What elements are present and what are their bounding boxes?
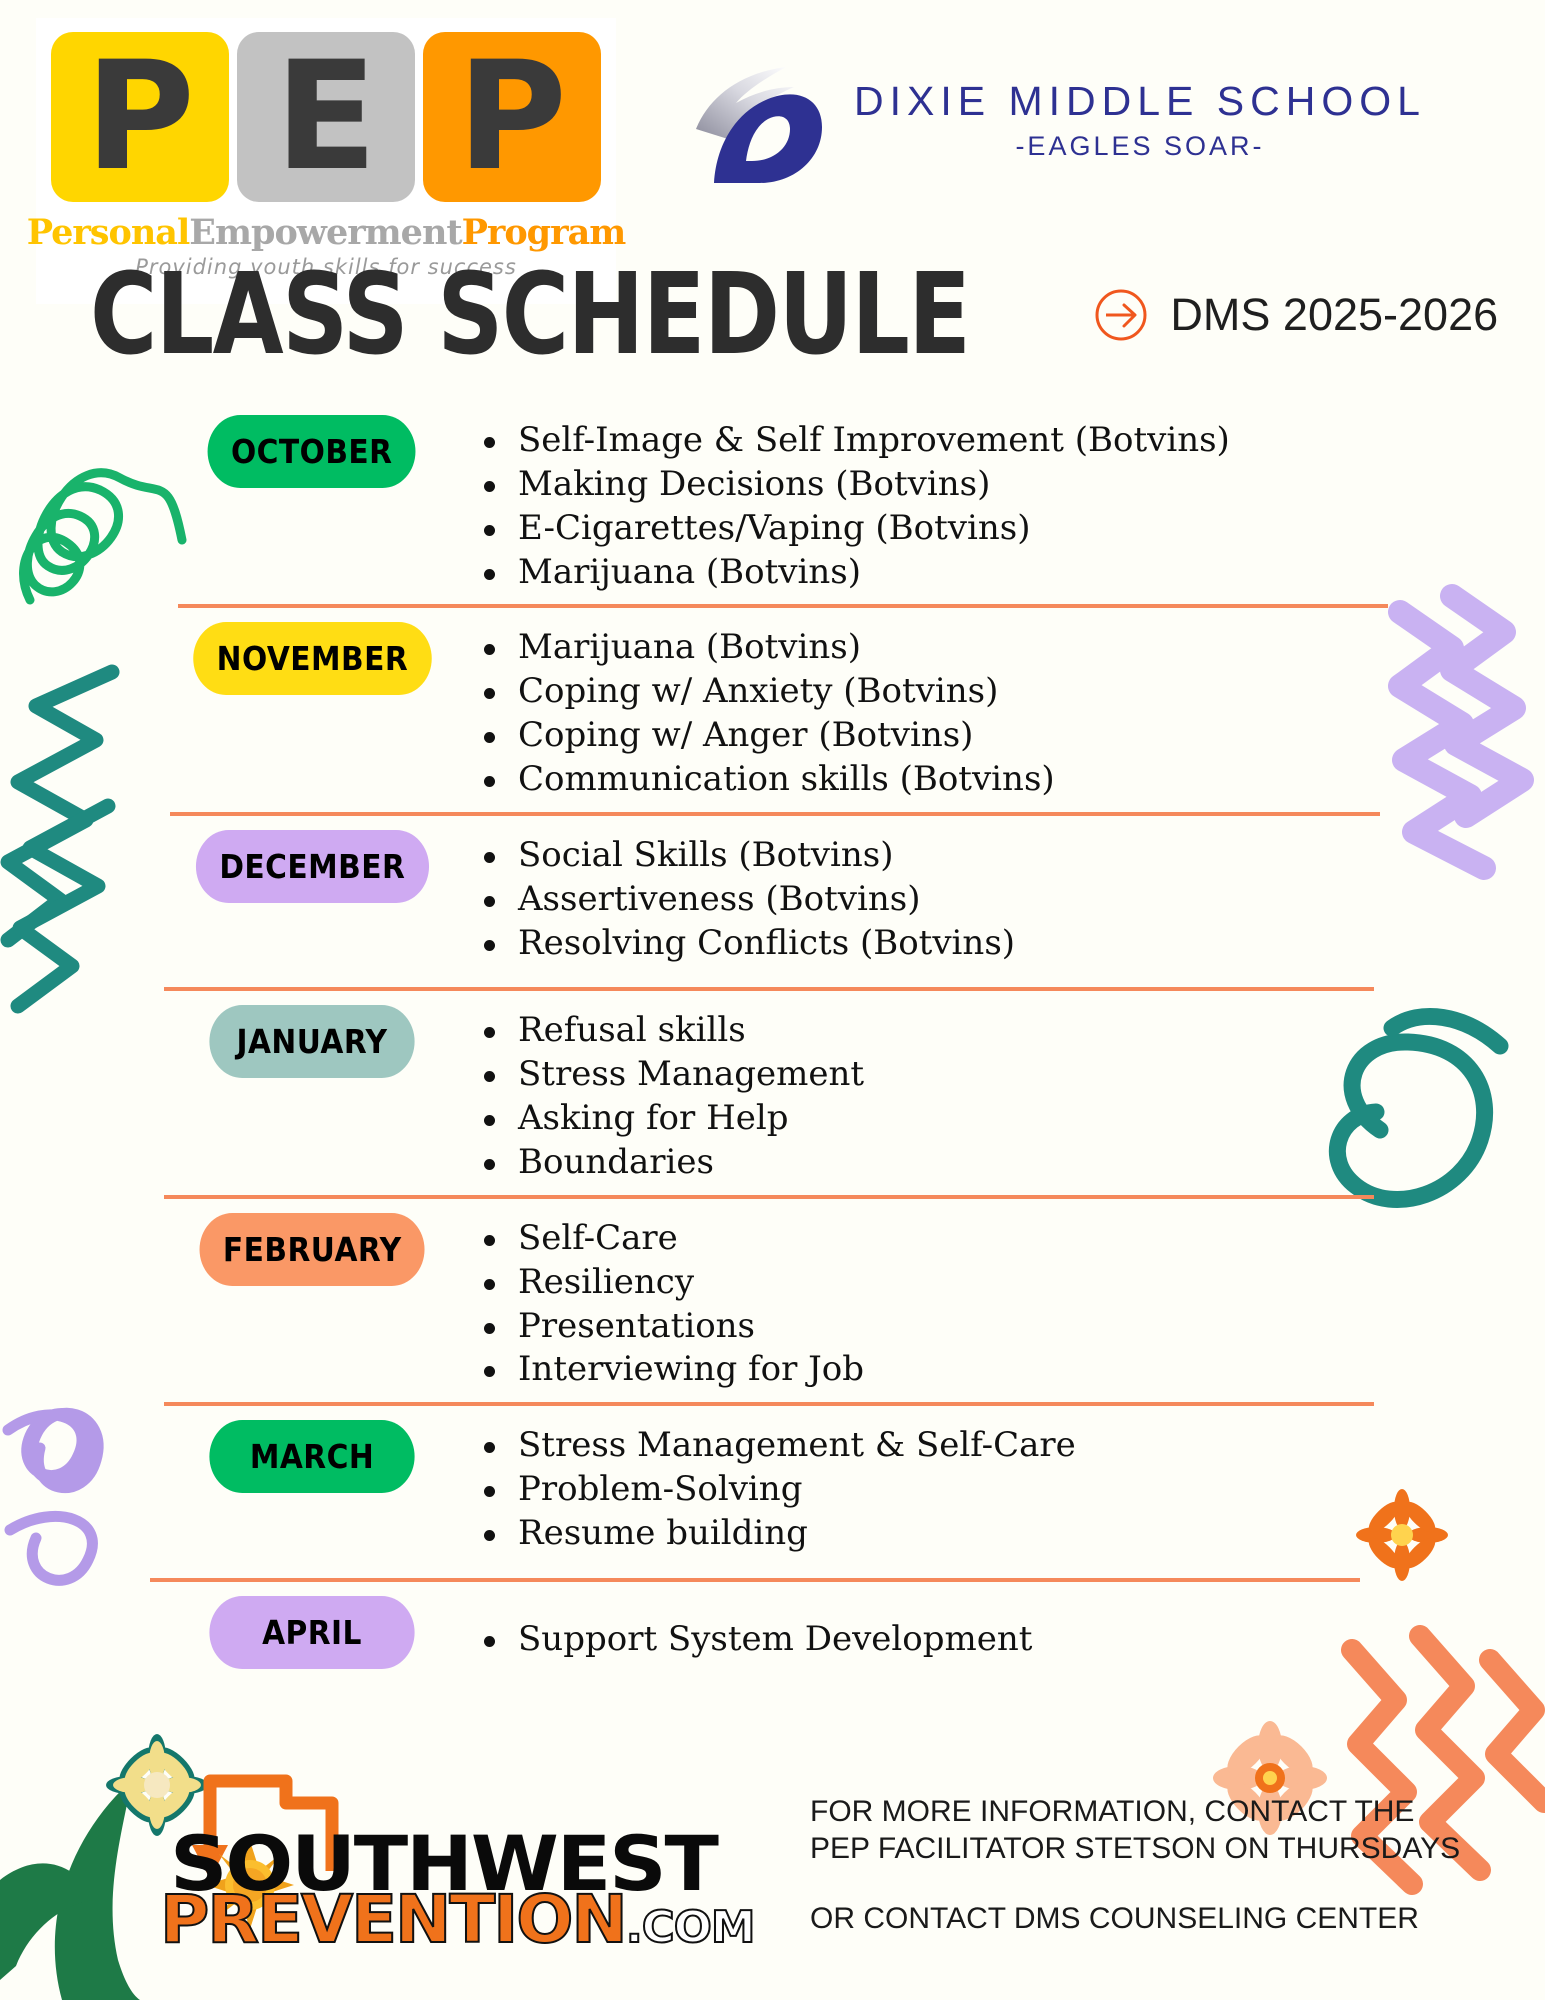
month-badge-february: FEBRUARY bbox=[199, 1213, 424, 1286]
topic-item: Resolving Conflicts (Botvins) bbox=[470, 922, 1545, 966]
topic-item: Making Decisions (Botvins) bbox=[470, 463, 1545, 507]
row-divider bbox=[178, 604, 1388, 608]
topic-item: Self-Image & Self Improvement (Botvins) bbox=[470, 419, 1545, 463]
title-row: CLASS SCHEDULE DMS 2025-2026 bbox=[90, 262, 1498, 368]
row-divider bbox=[150, 1578, 1360, 1582]
southwest-prevention-logo: SOUTHWEST PREVENTION.COM bbox=[150, 1767, 620, 1942]
month-badge-october: OCTOBER bbox=[208, 415, 416, 488]
dms-logo-text: DIXIE MIDDLE SCHOOL -EAGLES SOAR- bbox=[854, 78, 1426, 162]
topic-item: Support System Development bbox=[470, 1618, 1545, 1662]
pep-word-personal: Personal bbox=[27, 212, 190, 253]
month-badge-november: NOVEMBER bbox=[193, 622, 431, 695]
pep-logo-wordmark: PersonalEmpowermentProgram bbox=[27, 212, 626, 253]
month-badge-december: DECEMBER bbox=[196, 830, 429, 903]
row-divider bbox=[170, 812, 1380, 816]
topic-item: Communication skills (Botvins) bbox=[470, 758, 1545, 802]
month-row-december: DECEMBER Social Skills (Botvins) Asserti… bbox=[0, 830, 1545, 966]
pep-letter-tile-2: E bbox=[237, 32, 415, 202]
month-badge-april: APRIL bbox=[209, 1596, 414, 1669]
topic-item: Social Skills (Botvins) bbox=[470, 834, 1545, 878]
topic-item: Problem-Solving bbox=[470, 1468, 1545, 1512]
row-divider bbox=[164, 1195, 1374, 1199]
contact-line-3: OR CONTACT DMS COUNSELING CENTER bbox=[810, 1901, 1460, 1938]
topic-item: Coping w/ Anger (Botvins) bbox=[470, 714, 1545, 758]
topic-list-april: Support System Development bbox=[452, 1596, 1545, 1662]
topic-list-february: Self-Care Resiliency Presentations Inter… bbox=[452, 1213, 1545, 1392]
topic-item: Coping w/ Anxiety (Botvins) bbox=[470, 670, 1545, 714]
month-row-october: OCTOBER Self-Image & Self Improvement (B… bbox=[0, 415, 1545, 594]
topic-list-december: Social Skills (Botvins) Assertiveness (B… bbox=[452, 830, 1545, 966]
arrow-right-circle-icon bbox=[1094, 288, 1148, 342]
school-year-badge: DMS 2025-2026 bbox=[1094, 288, 1498, 342]
sponsor-word-dotcom: .COM bbox=[626, 1902, 755, 1953]
topic-list-october: Self-Image & Self Improvement (Botvins) … bbox=[452, 415, 1545, 594]
topic-item: E-Cigarettes/Vaping (Botvins) bbox=[470, 507, 1545, 551]
month-row-november: NOVEMBER Marijuana (Botvins) Coping w/ A… bbox=[0, 622, 1545, 801]
topic-list-november: Marijuana (Botvins) Coping w/ Anxiety (B… bbox=[452, 622, 1545, 801]
topic-item: Self-Care bbox=[470, 1217, 1545, 1261]
topic-item: Boundaries bbox=[470, 1141, 1545, 1185]
month-row-march: MARCH Stress Management & Self-Care Prob… bbox=[0, 1420, 1545, 1556]
dixie-middle-school-logo: DIXIE MIDDLE SCHOOL -EAGLES SOAR- bbox=[690, 55, 1426, 185]
month-row-february: FEBRUARY Self-Care Resiliency Presentati… bbox=[0, 1213, 1545, 1392]
topic-item: Stress Management bbox=[470, 1053, 1545, 1097]
topic-item: Resume building bbox=[470, 1512, 1545, 1556]
month-row-april: APRIL Support System Development bbox=[0, 1596, 1545, 1669]
topic-item: Asking for Help bbox=[470, 1097, 1545, 1141]
month-row-january: JANUARY Refusal skills Stress Management… bbox=[0, 1005, 1545, 1184]
page-title: CLASS SCHEDULE bbox=[90, 262, 969, 368]
pep-letter-tile-3: P bbox=[423, 32, 601, 202]
topic-list-march: Stress Management & Self-Care Problem-So… bbox=[452, 1420, 1545, 1556]
sponsor-word-prevention: PREVENTION bbox=[160, 1881, 626, 1958]
row-divider bbox=[164, 1402, 1374, 1406]
eagle-d-mark-icon bbox=[690, 55, 840, 185]
topic-item: Presentations bbox=[470, 1305, 1545, 1349]
school-year-label: DMS 2025-2026 bbox=[1170, 289, 1498, 341]
contact-line-2: PEP FACILITATOR STETSON ON THURSDAYS bbox=[810, 1831, 1460, 1868]
pep-word-empowerment: Empowerment bbox=[189, 212, 461, 253]
dms-school-name: DIXIE MIDDLE SCHOOL bbox=[854, 78, 1426, 125]
pep-letter-tile-1: P bbox=[51, 32, 229, 202]
poster-footer: SOUTHWEST PREVENTION.COM FOR MORE INFORM… bbox=[0, 1710, 1545, 2000]
topic-list-january: Refusal skills Stress Management Asking … bbox=[452, 1005, 1545, 1184]
row-divider bbox=[164, 987, 1374, 991]
month-badge-march: MARCH bbox=[209, 1420, 414, 1493]
contact-line-1: FOR MORE INFORMATION, CONTACT THE bbox=[810, 1794, 1460, 1831]
pep-logo-letters: P E P bbox=[51, 32, 601, 202]
topic-item: Marijuana (Botvins) bbox=[470, 626, 1545, 670]
topic-item: Marijuana (Botvins) bbox=[470, 551, 1545, 595]
topic-item: Interviewing for Job bbox=[470, 1348, 1545, 1392]
pep-word-program: Program bbox=[462, 212, 626, 253]
contact-info: FOR MORE INFORMATION, CONTACT THE PEP FA… bbox=[810, 1794, 1460, 1938]
month-badge-january: JANUARY bbox=[209, 1005, 414, 1078]
dms-school-motto: -EAGLES SOAR- bbox=[1015, 131, 1264, 162]
topic-item: Assertiveness (Botvins) bbox=[470, 878, 1545, 922]
topic-item: Refusal skills bbox=[470, 1009, 1545, 1053]
sponsor-word-prevention-row: PREVENTION.COM bbox=[160, 1881, 754, 1958]
topic-item: Stress Management & Self-Care bbox=[470, 1424, 1545, 1468]
topic-item: Resiliency bbox=[470, 1261, 1545, 1305]
class-schedule-list: OCTOBER Self-Image & Self Improvement (B… bbox=[0, 415, 1545, 1669]
